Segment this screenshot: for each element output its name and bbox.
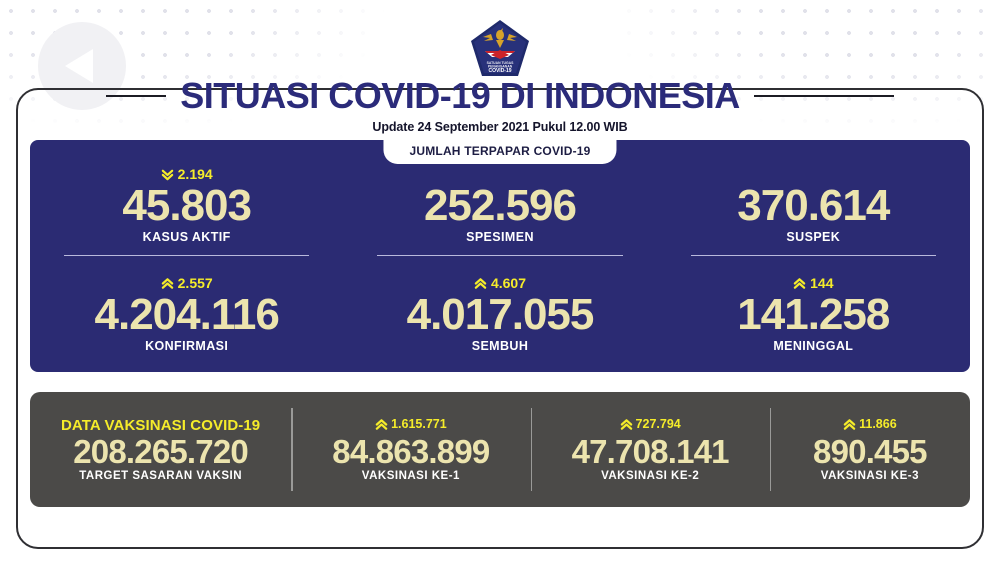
- delta-vaksinasi-ke-2: 727.794: [620, 417, 681, 432]
- page-title: SITUASI COVID-19 DI INDONESIA: [180, 78, 740, 114]
- delta-value: 144: [810, 276, 833, 290]
- garuda-covid19-task-force-logo: SATUAN TUGAS PENANGANAN COVID-19: [469, 18, 531, 80]
- stat-label: KASUS AKTIF: [143, 230, 231, 244]
- vax-label: TARGET SASARAN VAKSIN: [79, 470, 242, 482]
- stat-card-kasus-aktif: 2.194 45.803 KASUS AKTIF: [30, 140, 343, 256]
- vax-label: VAKSINASI KE-1: [362, 470, 460, 482]
- stat-label: MENINGGAL: [773, 339, 853, 353]
- vax-value: 84.863.899: [332, 435, 489, 470]
- vax-card-dose-2: 727.794 47.708.141 VAKSINASI KE-2: [531, 392, 770, 507]
- stat-value: 252.596: [424, 184, 576, 229]
- delta-vaksinasi-ke-3: 11.866: [843, 417, 897, 432]
- stat-value: 370.614: [737, 184, 889, 229]
- chevron-double-up-icon: [474, 277, 487, 290]
- vax-value: 208.265.720: [73, 435, 248, 470]
- stat-value: 4.017.055: [407, 293, 594, 338]
- covid-stats-panel: JUMLAH TERPAPAR COVID-19 2.194 45.803 KA…: [30, 140, 970, 372]
- delta-konfirmasi: 2.557: [161, 275, 213, 291]
- stat-label: SPESIMEN: [466, 230, 534, 244]
- chevron-double-up-icon: [843, 418, 856, 431]
- vax-label: VAKSINASI KE-2: [601, 470, 699, 482]
- chevron-double-up-icon: [793, 277, 806, 290]
- delta-value: 2.557: [178, 276, 213, 290]
- stat-card-sembuh: 4.607 4.017.055 SEMBUH: [343, 256, 656, 372]
- delta-sembuh: 4.607: [474, 275, 526, 291]
- delta-value: 1.615.771: [391, 418, 447, 431]
- stat-card-konfirmasi: 2.557 4.204.116 KONFIRMASI: [30, 256, 343, 372]
- vax-value: 47.708.141: [572, 435, 729, 470]
- title-rule-right: [754, 95, 894, 97]
- delta-value: 727.794: [636, 418, 681, 431]
- chevron-double-up-icon: [161, 277, 174, 290]
- vax-card-dose-1: 1.615.771 84.863.899 VAKSINASI KE-1: [291, 392, 530, 507]
- delta-value: 11.866: [859, 418, 897, 431]
- stat-card-spesimen: 252.596 SPESIMEN: [343, 140, 656, 256]
- title-rule-left: [106, 95, 166, 97]
- stat-value: 141.258: [737, 293, 889, 338]
- vax-card-dose-3: 11.866 890.455 VAKSINASI KE-3: [770, 392, 970, 507]
- covid-stats-grid: 2.194 45.803 KASUS AKTIF 252.596 SPESIME…: [30, 140, 970, 372]
- delta-vaksinasi-ke-1: 1.615.771: [375, 417, 447, 432]
- vaccination-heading: DATA VAKSINASI COVID-19: [61, 417, 260, 434]
- delta-value: 4.607: [491, 276, 526, 290]
- stat-value: 45.803: [122, 184, 251, 229]
- chevron-double-down-icon: [161, 168, 174, 181]
- chevron-double-up-icon: [375, 418, 388, 431]
- title-row: SITUASI COVID-19 DI INDONESIA: [0, 78, 1000, 114]
- delta-meninggal: 144: [793, 275, 833, 291]
- vax-card-target: DATA VAKSINASI COVID-19 208.265.720 TARG…: [30, 392, 291, 507]
- stat-value: 4.204.116: [95, 293, 279, 338]
- infographic-page: SATUAN TUGAS PENANGANAN COVID-19 SITUASI…: [0, 0, 1000, 563]
- chevron-double-up-icon: [620, 418, 633, 431]
- vaccination-panel: DATA VAKSINASI COVID-19 208.265.720 TARG…: [30, 392, 970, 507]
- stat-label: SUSPEK: [786, 230, 840, 244]
- vax-value: 890.455: [813, 435, 927, 470]
- update-timestamp: Update 24 September 2021 Pukul 12.00 WIB: [0, 120, 1000, 134]
- stat-label: SEMBUH: [472, 339, 529, 353]
- stat-label: KONFIRMASI: [145, 339, 228, 353]
- vax-label: VAKSINASI KE-3: [821, 470, 919, 482]
- svg-text:COVID-19: COVID-19: [488, 68, 511, 74]
- delta-value: 2.194: [178, 167, 213, 181]
- stat-card-meninggal: 144 141.258 MENINGGAL: [657, 256, 970, 372]
- stat-card-suspek: 370.614 SUSPEK: [657, 140, 970, 256]
- delta-kasus-aktif: 2.194: [161, 166, 213, 182]
